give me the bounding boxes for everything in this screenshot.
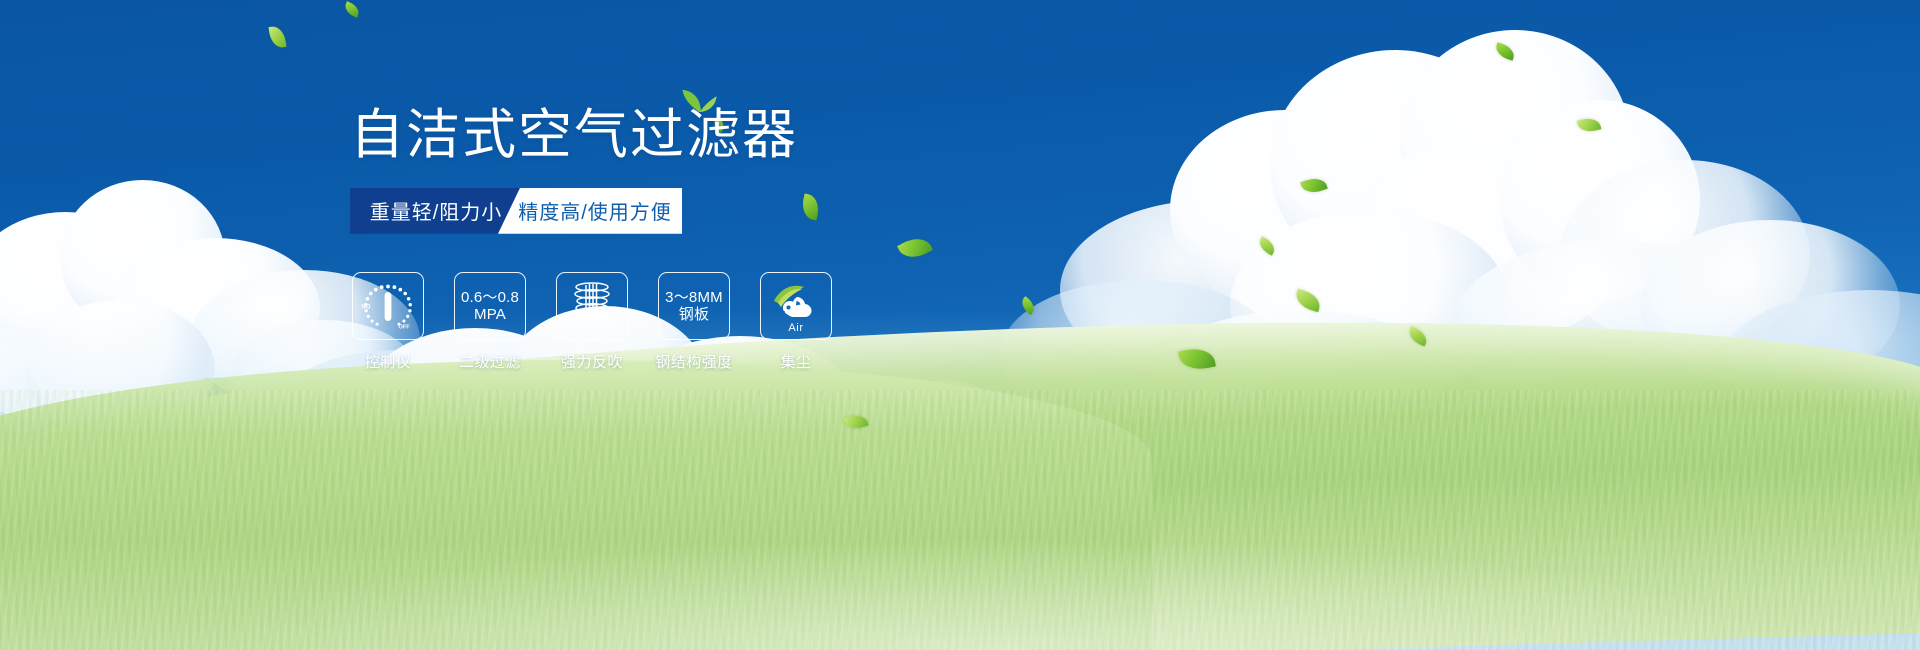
svg-text:NO: NO (361, 305, 370, 311)
svg-text:OFF: OFF (399, 325, 411, 331)
reverse-blow-icon (565, 280, 619, 332)
feature-item-reverse-blow[interactable]: 强力反吹 (556, 272, 628, 372)
banner-content: 自洁式空气过滤器 重量轻/阻力小 精度高/使用方便 (350, 104, 870, 234)
feature-box (556, 272, 628, 340)
steel-plate-text-icon: 3～8MM (665, 289, 723, 306)
feature-item-two-stage-filter[interactable]: 0.6～0.8 MPA 二级过滤 (454, 272, 526, 372)
feature-label: 钢结构强度 (655, 351, 733, 372)
feature-box: 3～8MM 钢板 (658, 272, 730, 340)
page-title: 自洁式空气过滤器 (350, 104, 870, 168)
hero-banner: 自洁式空气过滤器 重量轻/阻力小 精度高/使用方便 (0, 0, 1920, 650)
feature-label: 强力反吹 (561, 351, 623, 372)
tab-precision-convenience[interactable]: 精度高/使用方便 (498, 188, 682, 234)
leaf-icon (897, 232, 933, 264)
feature-box: 0.6～0.8 MPA (454, 272, 526, 340)
gauge-switch-icon: NO OFF (359, 280, 417, 332)
air-cloud-icon: Air (766, 281, 826, 331)
feature-item-steel-strength[interactable]: 3～8MM 钢板 钢结构强度 (658, 272, 730, 372)
air-label: Air (766, 322, 826, 334)
feature-box: Air (760, 272, 832, 340)
feature-item-dust-collection[interactable]: Air 集尘 (760, 272, 832, 372)
feature-label: 二级过滤 (459, 351, 521, 372)
steel-plate-unit-text: 钢板 (679, 306, 709, 323)
pressure-text-icon: 0.6～0.8 (461, 289, 519, 306)
feature-item-controller[interactable]: NO OFF 控制仪 (352, 272, 424, 372)
pressure-unit-text: MPA (474, 306, 506, 323)
feature-label: 控制仪 (365, 351, 412, 372)
feature-tabs: 重量轻/阻力小 精度高/使用方便 (350, 188, 672, 234)
feature-label: 集尘 (780, 351, 811, 372)
feature-list: NO OFF 控制仪 0.6～0.8 MPA 二级过滤 (352, 272, 832, 372)
feature-box: NO OFF (352, 272, 424, 340)
leaf-icon (269, 25, 287, 49)
leaf-icon (342, 1, 361, 18)
